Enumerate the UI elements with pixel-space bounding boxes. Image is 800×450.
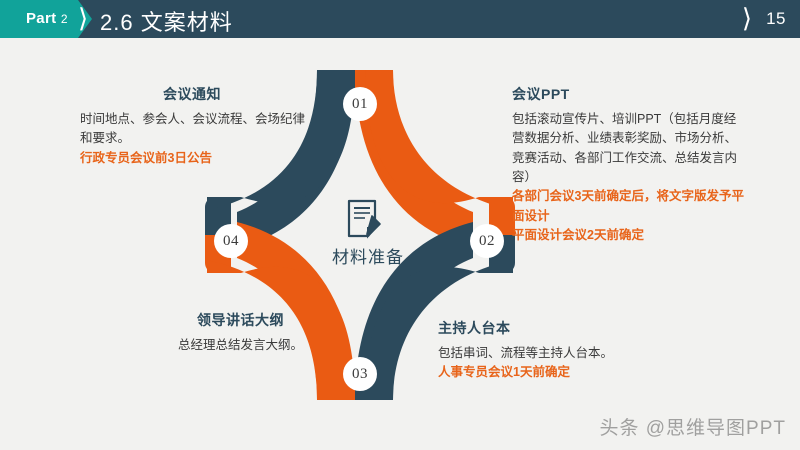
block-meeting-ppt-title: 会议PPT — [512, 86, 747, 103]
page-number: 15 — [766, 9, 786, 29]
block-meeting-notice-body: 时间地点、参会人、会议流程、会场纪律和要求。 — [80, 110, 310, 149]
block-meeting-ppt-accent-2: 平面设计会议2天前确定 — [512, 226, 747, 245]
center-label: 材料准备 — [308, 243, 428, 268]
step-badge-03[interactable]: 03 — [343, 357, 377, 391]
slide-canvas: Part 2 ⟩ 2.6 文案材料 ⟩ 15 — [0, 0, 800, 450]
document-pen-icon — [343, 198, 391, 242]
block-meeting-ppt-body: 包括滚动宣传片、培训PPT（包括月度经营数据分析、业绩表彰奖励、市场分析、竞赛活… — [512, 110, 747, 188]
block-meeting-notice: 会议通知 时间地点、参会人、会议流程、会场纪律和要求。 行政专员会议前3日公告 — [80, 86, 310, 168]
slide-header: Part 2 ⟩ 2.6 文案材料 ⟩ 15 — [0, 0, 800, 38]
chevron-right-icon-left: ⟩ — [78, 0, 88, 38]
part-number: 2 — [61, 12, 68, 26]
step-badge-01[interactable]: 01 — [343, 87, 377, 121]
watermark: 头条 @思维导图PPT — [599, 413, 786, 440]
block-meeting-ppt-accent: 各部门会议3天前确定后，将文字版发予平面设计 — [512, 187, 747, 226]
block-host-script: 主持人台本 包括串词、流程等主持人台本。 人事专员会议1天前确定 — [438, 320, 688, 383]
block-meeting-ppt: 会议PPT 包括滚动宣传片、培训PPT（包括月度经营数据分析、业绩表彰奖励、市场… — [512, 86, 747, 245]
chevron-right-icon-right: ⟩ — [742, 0, 752, 38]
part-label-text: Part — [26, 10, 56, 27]
step-badge-02[interactable]: 02 — [470, 224, 504, 258]
block-leader-speech-outline-title: 领导讲话大纲 — [128, 312, 353, 329]
block-meeting-notice-accent: 行政专员会议前3日公告 — [80, 149, 310, 168]
block-leader-speech-outline: 领导讲话大纲 总经理总结发言大纲。 — [128, 312, 353, 355]
block-host-script-accent: 人事专员会议1天前确定 — [438, 363, 688, 382]
block-host-script-title: 主持人台本 — [438, 320, 688, 337]
block-host-script-body: 包括串词、流程等主持人台本。 — [438, 344, 688, 363]
part-label: Part 2 — [26, 10, 68, 27]
block-leader-speech-outline-body: 总经理总结发言大纲。 — [128, 336, 353, 355]
page-title: 2.6 文案材料 — [100, 5, 233, 37]
step-badge-04[interactable]: 04 — [214, 224, 248, 258]
block-meeting-notice-title: 会议通知 — [80, 86, 310, 103]
